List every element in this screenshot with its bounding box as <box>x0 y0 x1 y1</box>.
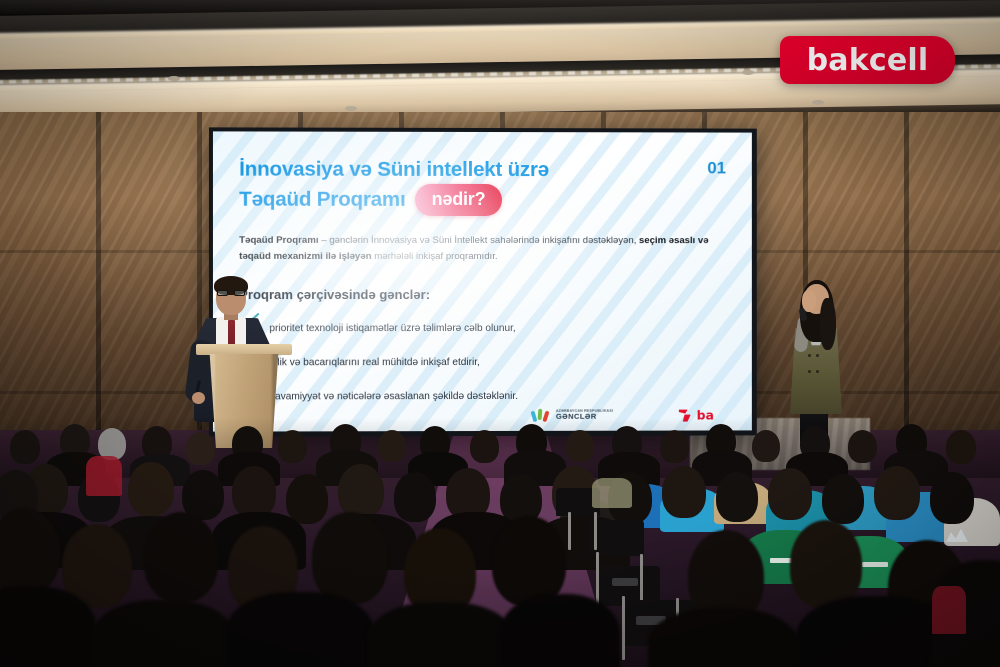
slide-title-line1: İnnovasiya və Süni intellekt üzrə <box>239 156 659 185</box>
photo-scene: bakcell 01 İnnovasiya və Süni intellekt … <box>0 0 1000 667</box>
slide-title-line2: Təqaüd Proqramı <box>239 186 405 214</box>
podium-top <box>196 344 292 355</box>
ceiling-spot-3 <box>345 106 357 111</box>
host-hair-side <box>820 298 836 350</box>
slide-subtitle: Proqram çərçivəsində gənclər: <box>239 287 730 302</box>
slide-bullet-text: davamiyyət və nəticələrə əsaslanan şəkil… <box>269 391 518 402</box>
slide-title-line2-row: Təqaüd Proqramı nədir? <box>239 184 659 217</box>
bakcell-logo: bakcell <box>780 36 955 84</box>
ceiling-spot-4 <box>812 100 824 105</box>
bakcell-logo-text: bakcell <box>807 43 929 78</box>
slide-number: 01 <box>707 158 726 178</box>
slide-title: İnnovasiya və Süni intellekt üzrə Təqaüd… <box>239 156 659 217</box>
glasses-icon <box>217 290 245 296</box>
slide-body-paragraph: Təqaüd Proqramı – gənclərin İnnovasiya v… <box>239 233 725 264</box>
ceiling-spot-1 <box>168 76 180 81</box>
slide-bullet-item: prioritet texnoloji istiqamətlər üzrə tə… <box>239 311 730 345</box>
slide-bullet-item: bilik və bacarıqlarını real mühitdə inki… <box>239 345 730 380</box>
slide-body-bold-1: Təqaüd Proqramı <box>239 235 318 246</box>
ceiling-spot-2 <box>742 70 754 75</box>
audience-shadow-haze <box>0 418 1000 478</box>
slide-bullet-text: bilik və bacarıqlarını real mühitdə inki… <box>269 357 479 368</box>
slide-bullet-text: prioritet texnoloji istiqamətlər üzrə tə… <box>269 323 515 334</box>
slide-bullet-list: prioritet texnoloji istiqamətlər üzrə tə… <box>239 311 730 414</box>
slide-body-text-1: – gənclərin İnnovasiya və Süni İntellekt… <box>319 235 639 246</box>
slide-title-pill: nədir? <box>415 184 503 217</box>
slide-body-text-2: mərhələli inkişaf proqramıdır. <box>372 251 498 262</box>
